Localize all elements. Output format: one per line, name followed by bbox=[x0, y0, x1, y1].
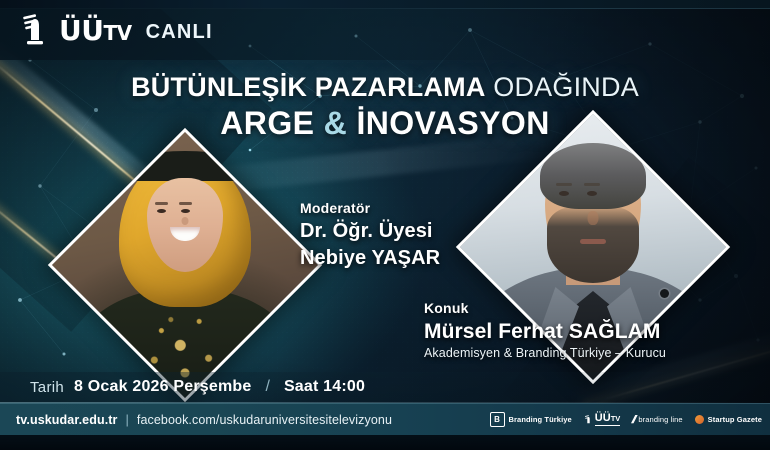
channel-logo-text: ÜÜTV bbox=[59, 17, 132, 45]
moderator-credit: Moderatör Dr. Öğr. Üyesi Nebiye YAŞAR bbox=[300, 200, 440, 270]
footer-divider: | bbox=[126, 412, 129, 427]
guest-name: Mürsel Ferhat SAĞLAM bbox=[424, 320, 666, 343]
guest-eye-left bbox=[559, 191, 569, 196]
guest-hair bbox=[540, 143, 646, 209]
live-badge: CANLI bbox=[146, 21, 213, 44]
logo-tv: TV bbox=[103, 21, 131, 45]
guest-subrole: Akademisyen & Branding Türkiye – Kurucu bbox=[424, 346, 666, 360]
schedule-separator: / bbox=[265, 378, 269, 396]
startup-gazete-mark-icon bbox=[695, 415, 704, 424]
date-label: Tarih bbox=[30, 379, 64, 396]
title-strong: BÜTÜNLEŞİK PAZARLAMA bbox=[131, 72, 485, 102]
guest-mouth bbox=[580, 239, 606, 244]
guest-eyebrow-left bbox=[556, 183, 572, 186]
schedule-inner: Tarih 8 Ocak 2026 Perşembe / Saat 14:00 bbox=[30, 378, 365, 396]
partner-logo-branding-line[interactable]: // branding line bbox=[632, 414, 682, 426]
uutv-mini-tower-icon bbox=[584, 414, 593, 426]
title-line-1: BÜTÜNLEŞİK PAZARLAMA ODAĞINDA bbox=[0, 72, 770, 102]
broadcast-promo-poster: ÜÜTV CANLI BÜTÜNLEŞİK PAZARLAMA ODAĞINDA… bbox=[0, 0, 770, 450]
bottom-shadow bbox=[0, 434, 770, 450]
guest-credit: Konuk Mürsel Ferhat SAĞLAM Akademisyen &… bbox=[424, 300, 666, 360]
guest-eyebrow-right bbox=[584, 183, 600, 186]
poster-title: BÜTÜNLEŞİK PAZARLAMA ODAĞINDA ARGE & İNO… bbox=[0, 72, 770, 141]
guest-lapel-microphone bbox=[660, 289, 669, 298]
guest-eye-right bbox=[587, 191, 597, 196]
uutv-mini-tv: TV bbox=[611, 414, 621, 423]
partner-logo-uutv[interactable]: ÜÜTV bbox=[584, 413, 620, 426]
title-arge: ARGE bbox=[220, 105, 323, 141]
channel-logo: ÜÜTV CANLI bbox=[20, 12, 213, 48]
title-ampersand: & bbox=[324, 105, 348, 141]
facebook-link[interactable]: facebook.com/uskudaruniversitesitelevizy… bbox=[137, 413, 392, 427]
moderator-name-line-1: Dr. Öğr. Üyesi bbox=[300, 220, 440, 243]
time-value: Saat 14:00 bbox=[284, 378, 365, 396]
moderator-eyebrow-right bbox=[179, 202, 192, 205]
moderator-name-line-2: Nebiye YAŞAR bbox=[300, 247, 440, 270]
guest-role-label: Konuk bbox=[424, 300, 666, 316]
branding-line-slash-icon: // bbox=[630, 414, 636, 426]
moderator-eyebrow-left bbox=[155, 202, 168, 205]
branding-turkiye-label: Branding Türkiye bbox=[509, 415, 572, 424]
branding-turkiye-mark-icon: B bbox=[490, 412, 505, 427]
moderator-role-label: Moderatör bbox=[300, 200, 440, 216]
title-line-2: ARGE & İNOVASYON bbox=[0, 105, 770, 141]
moderator-nose bbox=[182, 217, 189, 225]
branding-line-label: branding line bbox=[638, 415, 682, 424]
partner-logo-startup-gazete[interactable]: Startup Gazete bbox=[695, 415, 762, 424]
partner-logo-branding-turkiye[interactable]: B Branding Türkiye bbox=[490, 412, 572, 427]
guest-nose bbox=[588, 211, 599, 225]
schedule-bar: Tarih 8 Ocak 2026 Perşembe / Saat 14:00 bbox=[0, 372, 770, 402]
logo-uu: ÜÜ bbox=[59, 14, 103, 47]
broadcast-tower-icon bbox=[20, 12, 50, 48]
partner-logos: B Branding Türkiye ÜÜTV // branding line bbox=[490, 412, 762, 427]
footer-bar: tv.uskudar.edu.tr | facebook.com/uskudar… bbox=[0, 403, 770, 435]
title-light: ODAĞINDA bbox=[486, 72, 639, 102]
date-value: 8 Ocak 2026 Perşembe bbox=[74, 378, 251, 396]
website-link[interactable]: tv.uskudar.edu.tr bbox=[16, 413, 118, 427]
startup-gazete-label: Startup Gazete bbox=[708, 415, 762, 424]
uutv-mini-uu: ÜÜ bbox=[595, 412, 611, 424]
title-inovasyon: İNOVASYON bbox=[347, 105, 550, 141]
moderator-eye-right bbox=[181, 209, 190, 213]
uutv-mini-label: ÜÜTV bbox=[595, 413, 620, 426]
moderator-eye-left bbox=[157, 209, 166, 213]
